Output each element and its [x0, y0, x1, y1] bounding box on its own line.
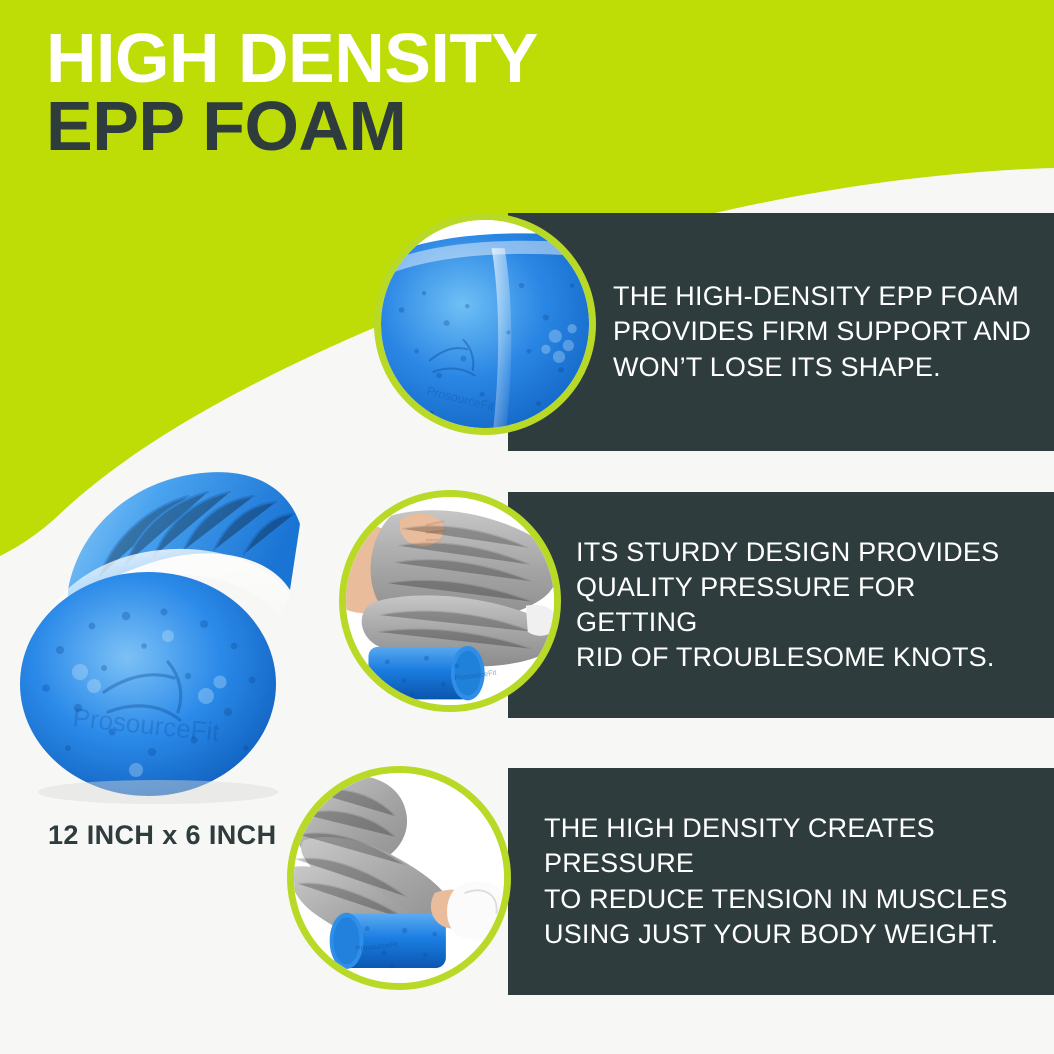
headline-line-1: HIGH DENSITY — [46, 26, 766, 90]
thigh-rolling-photo: ProsourceFit — [346, 497, 554, 705]
feature-image-circle-1: ProsourceFit — [374, 213, 596, 435]
product-dimension-label: 12 INCH x 6 INCH — [48, 820, 276, 851]
feature-text-2: ITS STURDY DESIGN PROVIDES QUALITY PRESS… — [508, 535, 1054, 675]
product-infographic: HIGH DENSITY EPP FOAM THE HIGH-DENSITY E… — [0, 0, 1054, 1054]
headline-line-2: EPP FOAM — [46, 94, 766, 158]
feature-text-3: THE HIGH DENSITY CREATES PRESSURE TO RED… — [508, 811, 1054, 951]
foam-roller-closeup-photo: ProsourceFit — [381, 220, 589, 428]
page-title: HIGH DENSITY EPP FOAM — [46, 26, 766, 159]
feature-panel-2: ITS STURDY DESIGN PROVIDES QUALITY PRESS… — [508, 492, 1054, 718]
feature-panel-3: THE HIGH DENSITY CREATES PRESSURE TO RED… — [508, 768, 1054, 995]
foam-roller-hero-photo: ProsourceFit — [8, 440, 328, 805]
feature-image-circle-2: ProsourceFit — [339, 490, 561, 712]
